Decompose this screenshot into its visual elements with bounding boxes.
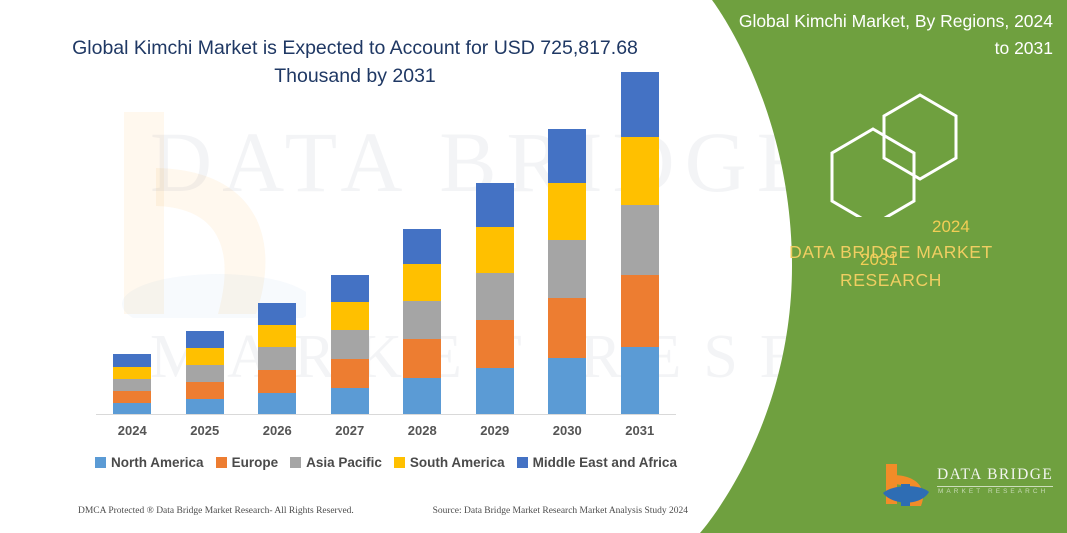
x-axis-label: 2028: [386, 423, 458, 438]
bar-column: [476, 183, 514, 415]
bar-segment: [403, 378, 441, 415]
bar-segment: [331, 275, 369, 302]
hexagon-outlines-icon: [820, 92, 1020, 217]
panel-title: Global Kimchi Market, By Regions, 2024 t…: [733, 8, 1053, 62]
bar-segment: [331, 388, 369, 415]
x-axis-label: 2024: [96, 423, 168, 438]
page-title: Global Kimchi Market is Expected to Acco…: [55, 34, 655, 90]
bar-segment: [621, 72, 659, 137]
x-axis-label: 2027: [314, 423, 386, 438]
bar-segment: [548, 240, 586, 298]
legend-label: Asia Pacific: [306, 455, 382, 470]
legend-label: Europe: [232, 455, 279, 470]
footer-source: Source: Data Bridge Market Research Mark…: [433, 506, 688, 516]
bar-column: [403, 229, 441, 415]
green-panel-content: Global Kimchi Market, By Regions, 2024 t…: [715, 0, 1067, 533]
bar-segment: [476, 368, 514, 415]
bar-segment: [258, 347, 296, 370]
bar-segment: [258, 393, 296, 415]
legend-item[interactable]: South America: [394, 455, 505, 470]
legend-item[interactable]: Middle East and Africa: [517, 455, 677, 470]
bar-column: [548, 129, 586, 415]
bar-segment: [113, 379, 151, 391]
databridge-logo: DATA BRIDGE MARKET RESEARCH: [881, 462, 1061, 510]
brand-heading: DATA BRIDGE MARKET RESEARCH: [741, 238, 1041, 294]
bar-segment: [186, 348, 224, 365]
footer-copyright: DMCA Protected ® Data Bridge Market Rese…: [78, 506, 354, 516]
legend-swatch-icon: [216, 457, 227, 468]
bar-segment: [403, 229, 441, 264]
legend-label: South America: [410, 455, 505, 470]
bar-segment: [548, 129, 586, 183]
x-axis-label: 2025: [169, 423, 241, 438]
legend-label: North America: [111, 455, 204, 470]
legend-item[interactable]: Europe: [216, 455, 279, 470]
bar-segment: [186, 399, 224, 415]
x-axis-tick-labels: 20242025202620272028202920302031: [96, 423, 676, 443]
bar-column: [258, 303, 296, 415]
legend-swatch-icon: [290, 457, 301, 468]
bar-segment: [258, 370, 296, 393]
legend-label: Middle East and Africa: [533, 455, 677, 470]
legend-item[interactable]: North America: [95, 455, 204, 470]
bar-segment: [403, 339, 441, 378]
bar-segment: [113, 354, 151, 367]
bar-column: [113, 354, 151, 415]
bar-segment: [258, 303, 296, 325]
logo-text-sub: MARKET RESEARCH: [938, 488, 1048, 495]
bar-segment: [476, 320, 514, 368]
bar-segment: [331, 359, 369, 388]
x-axis-label: 2030: [531, 423, 603, 438]
bar-segment: [621, 347, 659, 415]
legend-item[interactable]: Asia Pacific: [290, 455, 382, 470]
x-axis-label: 2026: [241, 423, 313, 438]
bar-column: [186, 331, 224, 415]
bar-segment: [331, 302, 369, 330]
bar-segment: [186, 365, 224, 382]
bar-segment: [186, 382, 224, 399]
databridge-logo-icon: [881, 462, 933, 508]
bar-segment: [403, 301, 441, 339]
bar-column: [331, 275, 369, 415]
bar-segment: [621, 137, 659, 205]
bar-segment: [331, 330, 369, 359]
bar-segment: [476, 183, 514, 227]
bar-column: [621, 72, 659, 415]
chart-pane: Global Kimchi Market is Expected to Acco…: [0, 0, 715, 533]
x-axis-label: 2029: [459, 423, 531, 438]
infographic-root: DATA BRIDGE MARKET RESEARCH Global Kimch…: [0, 0, 1067, 533]
logo-text-main: DATA BRIDGE: [937, 466, 1053, 484]
bar-segment: [403, 264, 441, 301]
bar-segment: [548, 183, 586, 240]
bar-segment: [621, 275, 659, 347]
bar-segment: [476, 227, 514, 273]
chart-plot-area: [96, 115, 676, 415]
bar-segment: [113, 391, 151, 403]
hex-badge-2024-label: 2024: [932, 217, 970, 237]
bar-segment: [548, 358, 586, 415]
bar-segment: [621, 205, 659, 275]
logo-divider: [937, 486, 1053, 487]
footer: DMCA Protected ® Data Bridge Market Rese…: [78, 506, 688, 516]
brand-heading-line-2: RESEARCH: [840, 270, 942, 290]
bar-segment: [186, 331, 224, 348]
bar-segment: [548, 298, 586, 358]
legend-swatch-icon: [517, 457, 528, 468]
x-axis-label: 2031: [604, 423, 676, 438]
x-axis-line: [96, 414, 676, 415]
brand-heading-line-1: DATA BRIDGE MARKET: [789, 242, 993, 262]
hexagon-badges: 2024 2031: [820, 92, 1020, 217]
chart-legend: North AmericaEuropeAsia PacificSouth Ame…: [96, 455, 676, 470]
legend-swatch-icon: [95, 457, 106, 468]
bar-segment: [258, 325, 296, 347]
legend-swatch-icon: [394, 457, 405, 468]
bar-segment: [476, 273, 514, 320]
bar-segment: [113, 367, 151, 379]
